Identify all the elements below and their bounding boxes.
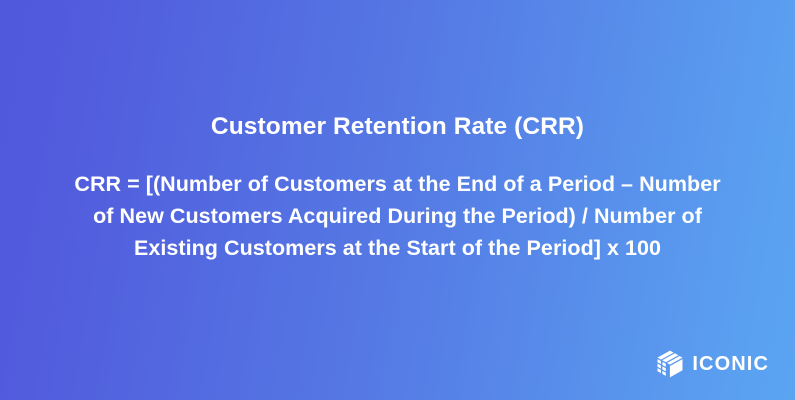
formula-line: of New Customers Acquired During the Per…	[58, 200, 738, 232]
brand-logo: ICONIC	[657, 350, 769, 378]
formula-block: CRR = [(Number of Customers at the End o…	[58, 168, 738, 264]
slide-content: Customer Retention Rate (CRR) CRR = [(Nu…	[0, 112, 795, 264]
isometric-cube-icon	[657, 350, 683, 378]
formula-line: Existing Customers at the Start of the P…	[58, 232, 738, 264]
page-title: Customer Retention Rate (CRR)	[211, 112, 584, 142]
brand-name: ICONIC	[692, 354, 769, 374]
slide-canvas: Customer Retention Rate (CRR) CRR = [(Nu…	[0, 0, 795, 400]
formula-line: CRR = [(Number of Customers at the End o…	[58, 168, 738, 200]
